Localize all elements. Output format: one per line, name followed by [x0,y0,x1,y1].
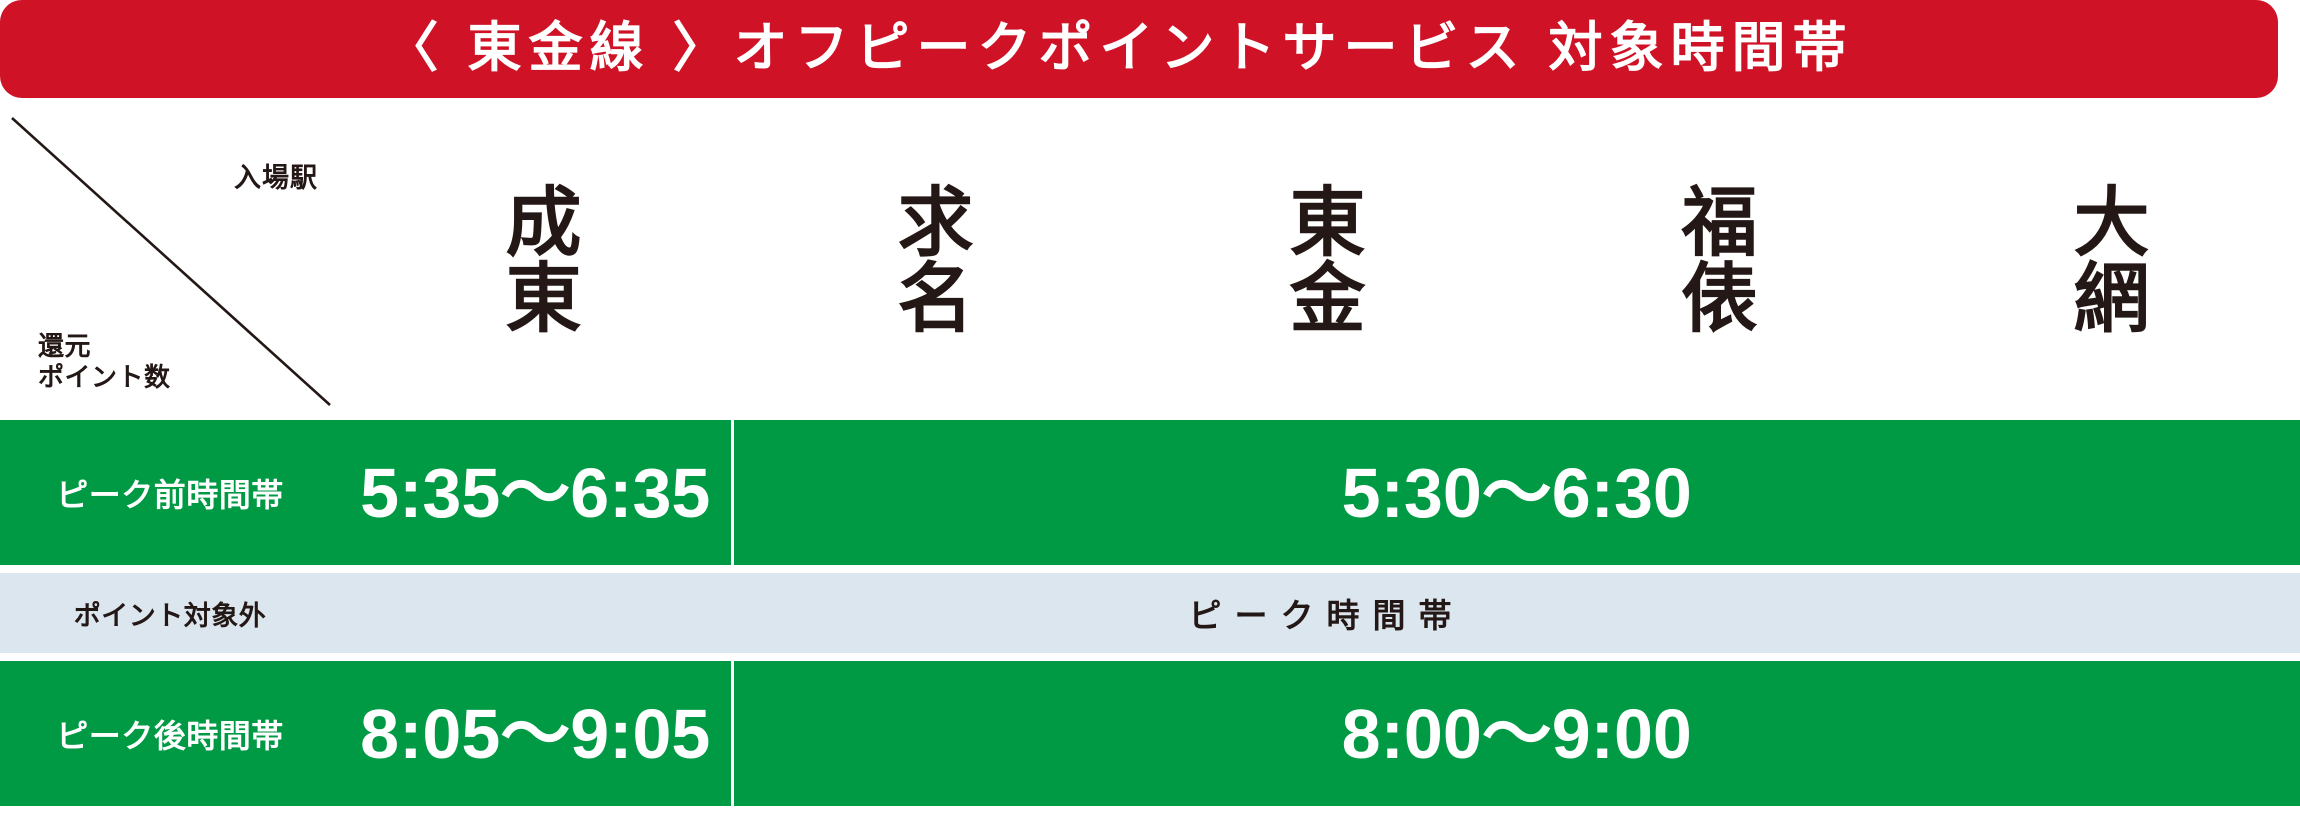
cell-post-peak-others: 8:00〜9:00 [732,661,2300,806]
row-spacer-cell [0,565,2300,573]
banner-inner: 〈 東金線 〉オフピークポイントサービス 対象時間帯 [0,22,2278,76]
station-header-gumyo: 求名 [732,100,1124,420]
station-header-togane: 東金 [1124,100,1516,420]
cell-post-peak-naruto: 8:05〜9:05 [340,661,732,806]
station-header-naruto: 成東 [340,100,732,420]
row-label-peak-excluded: ポイント対象外 [0,573,340,653]
cell-peak-period: ピーク時間帯 [340,573,2300,653]
corner-col-axis-label-line1: 還元 [38,331,91,361]
station-name-label: 成東 [474,182,597,334]
row-spacer [0,565,2300,573]
offpeak-point-service-table: 〈 東金線 〉オフピークポイントサービス 対象時間帯 入場駅 還元 ポイント数 [0,0,2300,815]
table-header-row: 入場駅 還元 ポイント数 成東 求名 東金 福俵 [0,100,2300,420]
row-label-pre-peak: ピーク前時間帯 [0,420,340,565]
corner-row-axis-label: 入場駅 [234,156,318,195]
station-name-label: 大網 [2042,182,2165,334]
cell-pre-peak-others: 5:30〜6:30 [732,420,2300,565]
station-name-label: 求名 [866,182,989,334]
schedule-table: 入場駅 還元 ポイント数 成東 求名 東金 福俵 [0,100,2300,806]
corner-col-axis-label-line2: ポイント数 [38,362,171,392]
row-label-post-peak: ピーク後時間帯 [0,661,340,806]
station-header-oami: 大網 [1908,100,2300,420]
station-header-fukudawara: 福俵 [1516,100,1908,420]
banner: 〈 東金線 〉オフピークポイントサービス 対象時間帯 [0,0,2278,98]
station-name-label: 福俵 [1650,182,1773,334]
table-row-post-peak: ピーク後時間帯 8:05〜9:05 8:00〜9:00 [0,661,2300,806]
table-row-peak: ポイント対象外 ピーク時間帯 [0,573,2300,653]
corner-col-axis-label: 還元 ポイント数 [38,331,171,394]
banner-title: 〈 東金線 〉オフピークポイントサービス 対象時間帯 [384,21,1853,75]
station-name-label: 東金 [1258,182,1381,334]
row-spacer [0,653,2300,661]
row-spacer-cell [0,653,2300,661]
cell-pre-peak-naruto: 5:35〜6:35 [340,420,732,565]
corner-axis-cell: 入場駅 還元 ポイント数 [0,100,340,420]
table-row-pre-peak: ピーク前時間帯 5:35〜6:35 5:30〜6:30 [0,420,2300,565]
